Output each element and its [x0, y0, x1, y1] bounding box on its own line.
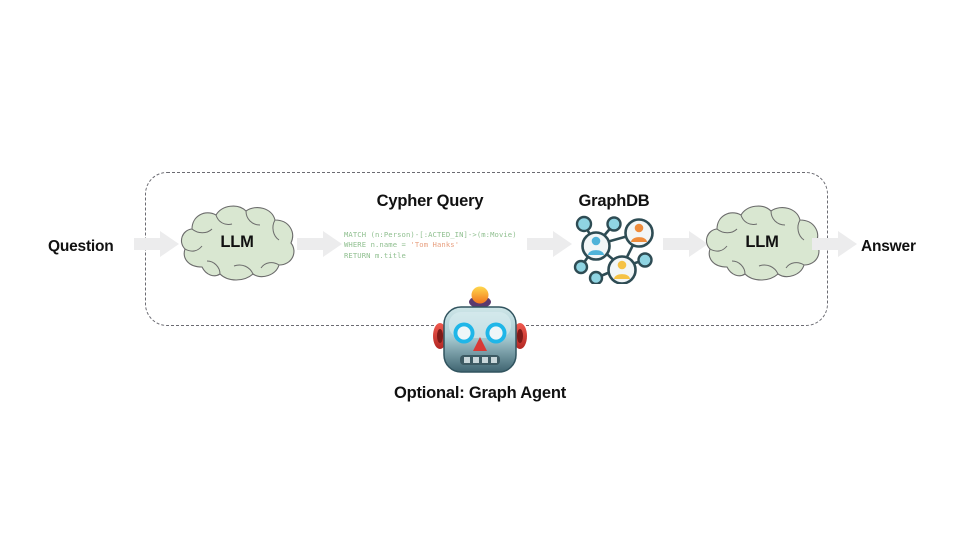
cypher-code-snippet: MATCH (n:Person)-[:ACTED_IN]->(m:Movie) … [344, 230, 517, 261]
network-graph-icon [567, 210, 661, 284]
arrow-question-to-llm-icon [134, 231, 179, 257]
arrow-llm-to-cypher-icon [297, 231, 342, 257]
question-label: Question [48, 238, 114, 256]
cypher-line-2-prefix: WHERE n.name = [344, 240, 410, 249]
graphdb-title: GraphDB [558, 192, 670, 211]
arrow-graphdb-to-llm-icon [663, 231, 708, 257]
arrow-llm-to-answer-icon [812, 231, 857, 257]
cypher-line-3: RETURN m.title [344, 251, 406, 260]
arrow-cypher-to-graphdb-icon [527, 231, 572, 257]
agent-caption: Optional: Graph Agent [330, 384, 630, 403]
llm-right-cloud: LLM [703, 203, 821, 283]
answer-label: Answer [861, 238, 916, 256]
cypher-line-2-string: 'Tom Hanks' [410, 240, 459, 249]
diagram-canvas: Question LLM Cypher Query MATCH (n:Perso… [0, 0, 960, 540]
cypher-line-1: MATCH (n:Person)-[:ACTED_IN]->(m:Movie) [344, 230, 517, 239]
robot-icon [432, 286, 528, 378]
cypher-query-title: Cypher Query [355, 192, 505, 211]
llm-left-cloud: LLM [178, 203, 296, 283]
